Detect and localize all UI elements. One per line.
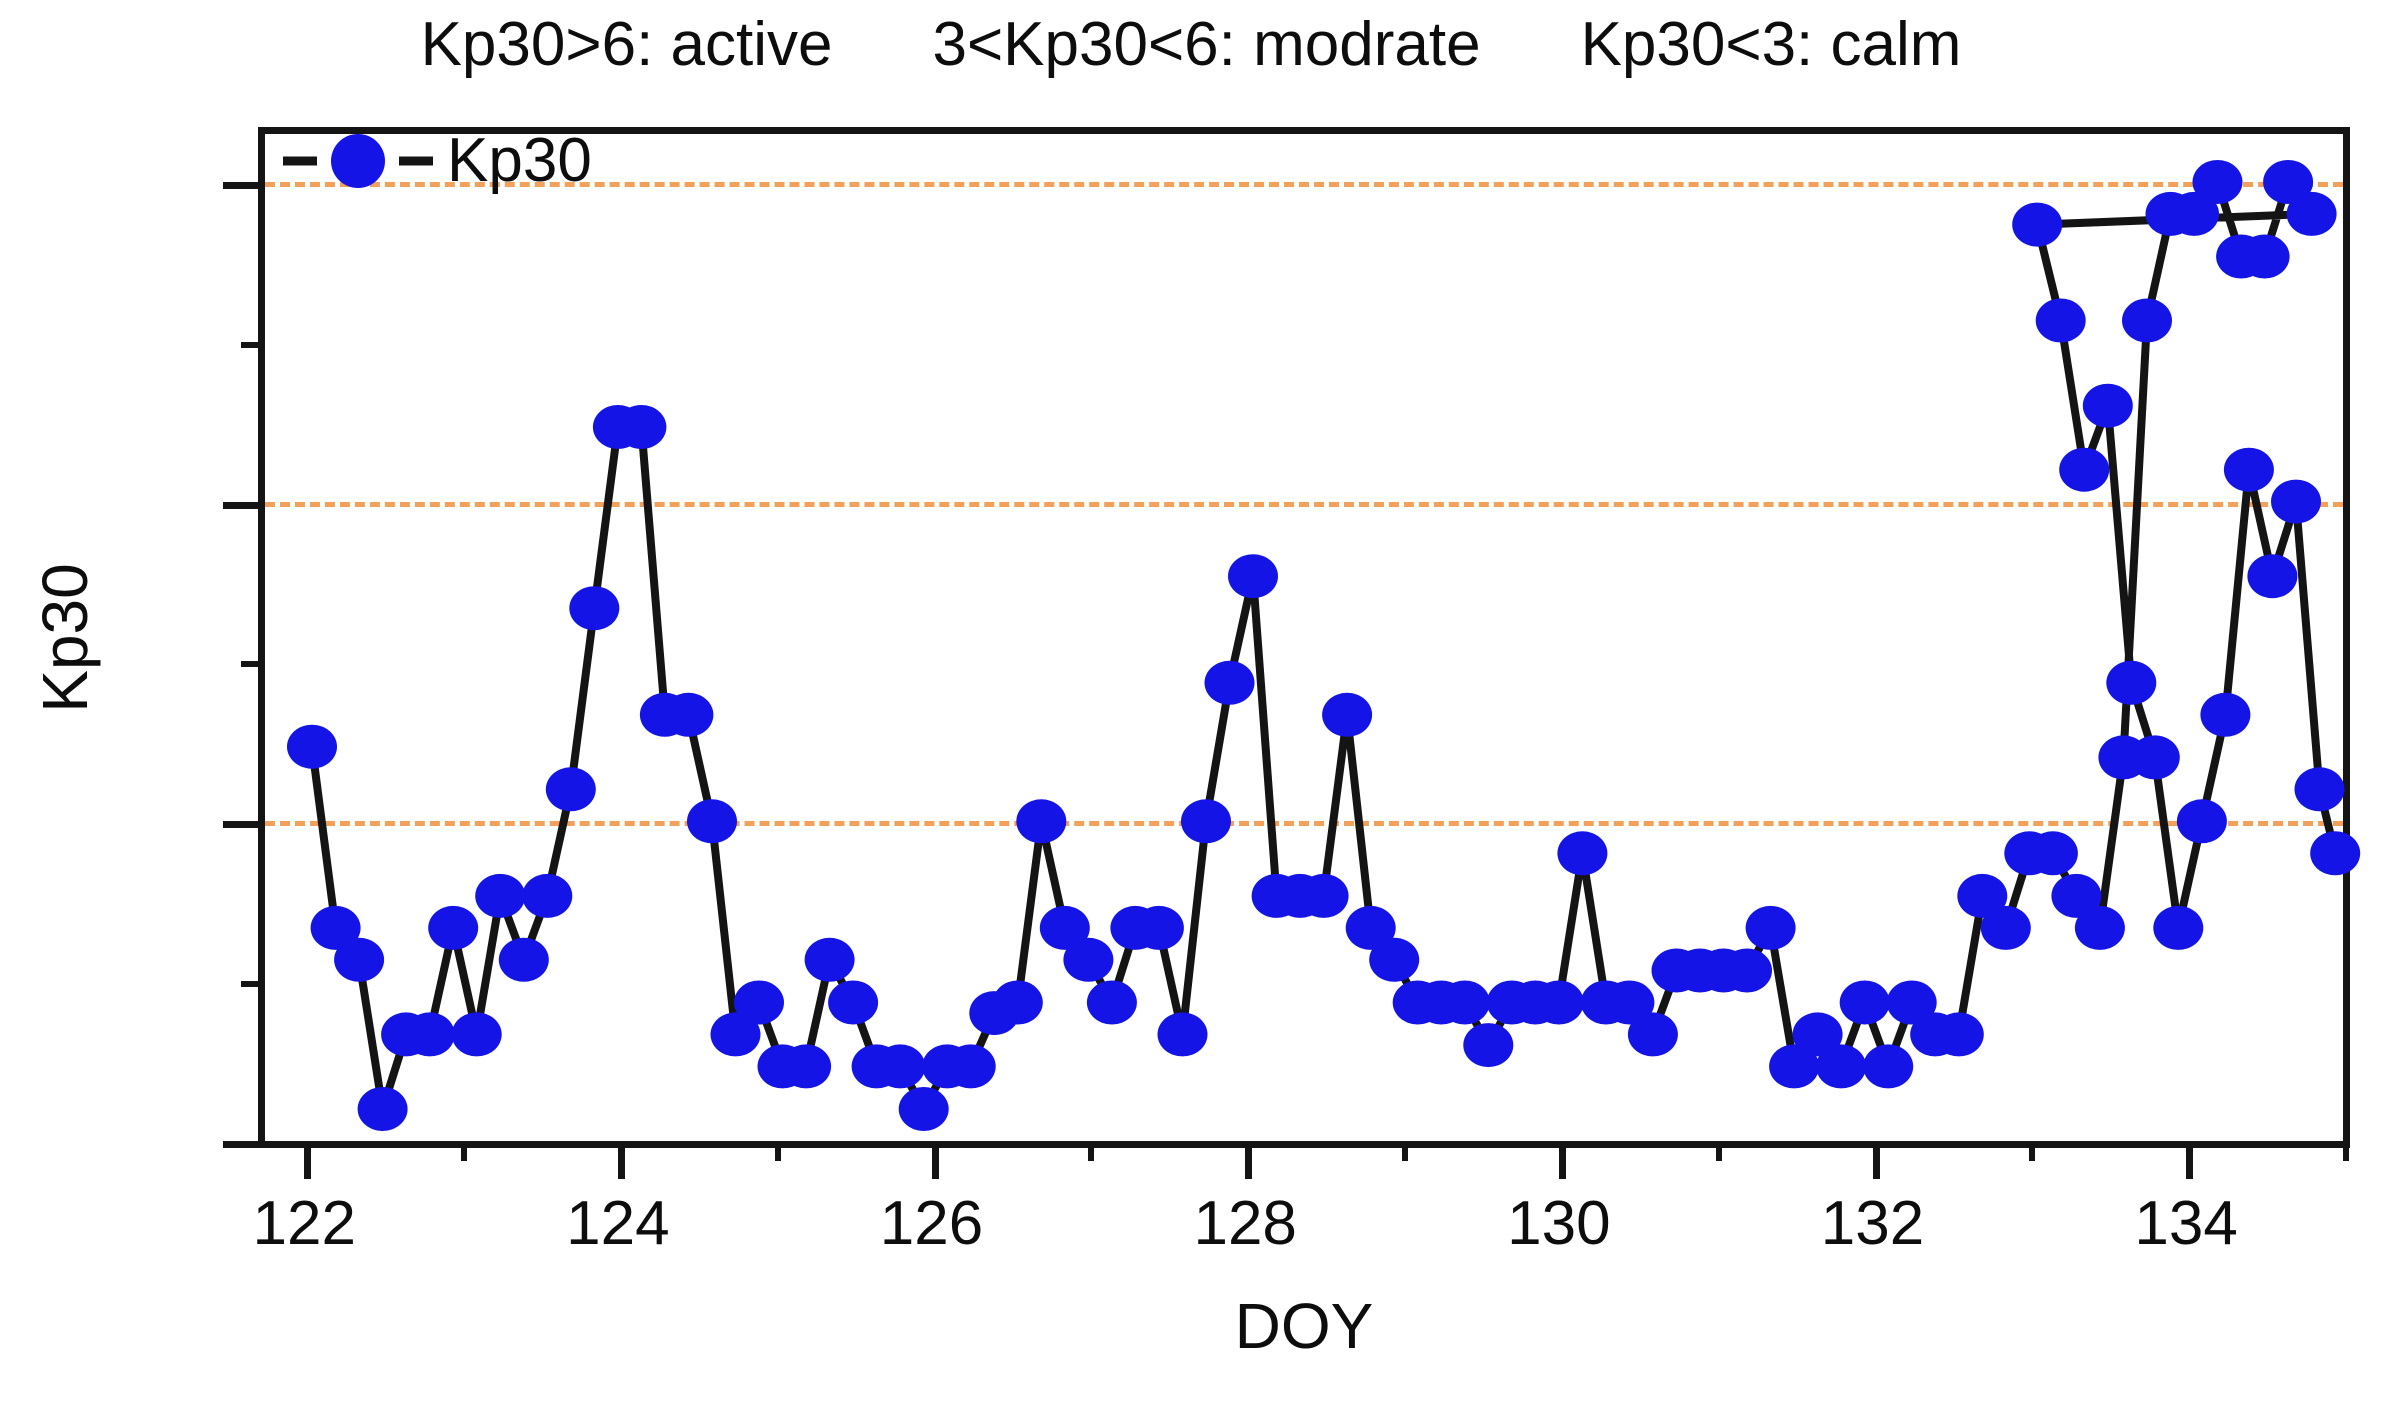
x-tick-124 (618, 1141, 625, 1179)
data-point (1016, 799, 1066, 843)
data-point (1440, 981, 1490, 1025)
data-point (2012, 203, 2062, 247)
y-tick-6 (223, 502, 265, 509)
plot-area: 0369 122124126128130132134 Kp30 DOY Kp30 (258, 127, 2350, 1148)
data-point (2295, 767, 2345, 811)
data-point (663, 693, 713, 737)
data-point (499, 938, 549, 982)
data-point (1746, 906, 1796, 950)
legend-marker-kp30 (283, 133, 433, 189)
legend-dash-left-icon (283, 157, 317, 166)
data-point (1063, 938, 1113, 982)
data-point (2224, 448, 2274, 492)
data-point (287, 725, 337, 769)
data-point (522, 874, 572, 918)
x-tick-label-128: 128 (1193, 1193, 1296, 1255)
data-point (1840, 981, 1890, 1025)
data-point (1863, 1044, 1913, 1088)
data-point (2200, 693, 2250, 737)
x-minor-tick-131 (1716, 1141, 1722, 1161)
data-point (993, 981, 1043, 1025)
data-point (946, 1044, 996, 1088)
data-point (875, 1044, 925, 1088)
data-point (452, 1012, 502, 1056)
kp30-chart-figure: Kp30>6: active 3<Kp30<6: modrate Kp30<3:… (0, 0, 2382, 1405)
title-segment-active: Kp30>6: active (421, 9, 833, 80)
data-point (2130, 735, 2180, 779)
data-point (1722, 949, 1772, 993)
x-tick-label-126: 126 (880, 1193, 983, 1255)
x-tick-label-134: 134 (2134, 1193, 2237, 1255)
data-point (1934, 1012, 1984, 1056)
data-point (2106, 661, 2156, 705)
y-minor-tick-7.5 (241, 342, 265, 348)
data-point (2193, 160, 2243, 204)
data-point (2059, 448, 2109, 492)
data-point (687, 799, 737, 843)
data-point (2028, 831, 2078, 875)
data-point (734, 981, 784, 1025)
data-point (2271, 480, 2321, 524)
data-point (805, 938, 855, 982)
series-line-kp30 (312, 182, 2335, 1109)
x-minor-tick-135 (2343, 1141, 2349, 1161)
data-point (1205, 661, 1255, 705)
data-point (2083, 384, 2133, 428)
data-point (1369, 938, 1419, 982)
data-point (1228, 554, 1278, 598)
data-point (2247, 554, 2297, 598)
data-point (828, 981, 878, 1025)
y-minor-tick-1.5 (241, 981, 265, 987)
data-point (428, 906, 478, 950)
data-point (1322, 693, 1372, 737)
x-minor-tick-127 (1088, 1141, 1094, 1161)
data-point (2122, 299, 2172, 343)
x-minor-tick-123 (461, 1141, 467, 1161)
data-point (2036, 299, 2086, 343)
x-axis-label: DOY (1235, 1289, 1374, 1363)
x-minor-tick-129 (1402, 1141, 1408, 1161)
data-point (2153, 906, 2203, 950)
chart-title: Kp30>6: active 3<Kp30<6: modrate Kp30<3:… (0, 2, 2382, 86)
legend[interactable]: Kp30 (277, 126, 606, 196)
data-point (334, 938, 384, 982)
x-minor-tick-133 (2029, 1141, 2035, 1161)
title-segment-calm: Kp30<3: calm (1581, 9, 1962, 80)
data-point (616, 405, 666, 449)
x-tick-128 (1245, 1141, 1252, 1179)
data-point (1181, 799, 1231, 843)
data-point (1158, 1012, 1208, 1056)
x-tick-label-132: 132 (1821, 1193, 1924, 1255)
x-minor-tick-125 (775, 1141, 781, 1161)
data-point (2240, 235, 2290, 279)
data-point (2075, 906, 2125, 950)
data-point (2310, 831, 2360, 875)
y-tick-0 (223, 1141, 265, 1148)
x-tick-132 (1873, 1141, 1880, 1179)
data-point (781, 1044, 831, 1088)
data-point (405, 1012, 455, 1056)
x-tick-134 (2186, 1141, 2193, 1179)
y-minor-tick-4.5 (241, 661, 265, 667)
data-point (1534, 981, 1584, 1025)
data-point (1134, 906, 1184, 950)
data-point (1557, 831, 1607, 875)
data-point (2287, 192, 2337, 236)
data-point (1981, 906, 2031, 950)
data-point (2177, 799, 2227, 843)
data-point (1628, 1012, 1678, 1056)
x-tick-122 (304, 1141, 311, 1179)
legend-label-kp30: Kp30 (447, 130, 592, 192)
data-point (546, 767, 596, 811)
y-axis-label: Kp30 (28, 563, 102, 712)
x-tick-label-124: 124 (566, 1193, 669, 1255)
data-point (358, 1087, 408, 1131)
data-series-layer (265, 134, 2343, 1141)
data-point (569, 586, 619, 630)
plot-inner: 0369 122124126128130132134 Kp30 DOY Kp30 (265, 134, 2343, 1141)
data-point (1299, 874, 1349, 918)
data-point (1087, 981, 1137, 1025)
x-tick-126 (932, 1141, 939, 1179)
title-segment-moderate: 3<Kp30<6: modrate (932, 9, 1480, 80)
x-tick-130 (1559, 1141, 1566, 1179)
data-point (1463, 1023, 1513, 1067)
data-point (1816, 1044, 1866, 1088)
y-tick-3 (223, 821, 265, 828)
x-tick-label-130: 130 (1507, 1193, 1610, 1255)
data-point (475, 874, 525, 918)
y-tick-9 (223, 182, 265, 189)
legend-circle-icon (331, 134, 385, 188)
legend-dash-right-icon (399, 157, 433, 166)
data-point (899, 1087, 949, 1131)
x-tick-label-122: 122 (252, 1193, 355, 1255)
